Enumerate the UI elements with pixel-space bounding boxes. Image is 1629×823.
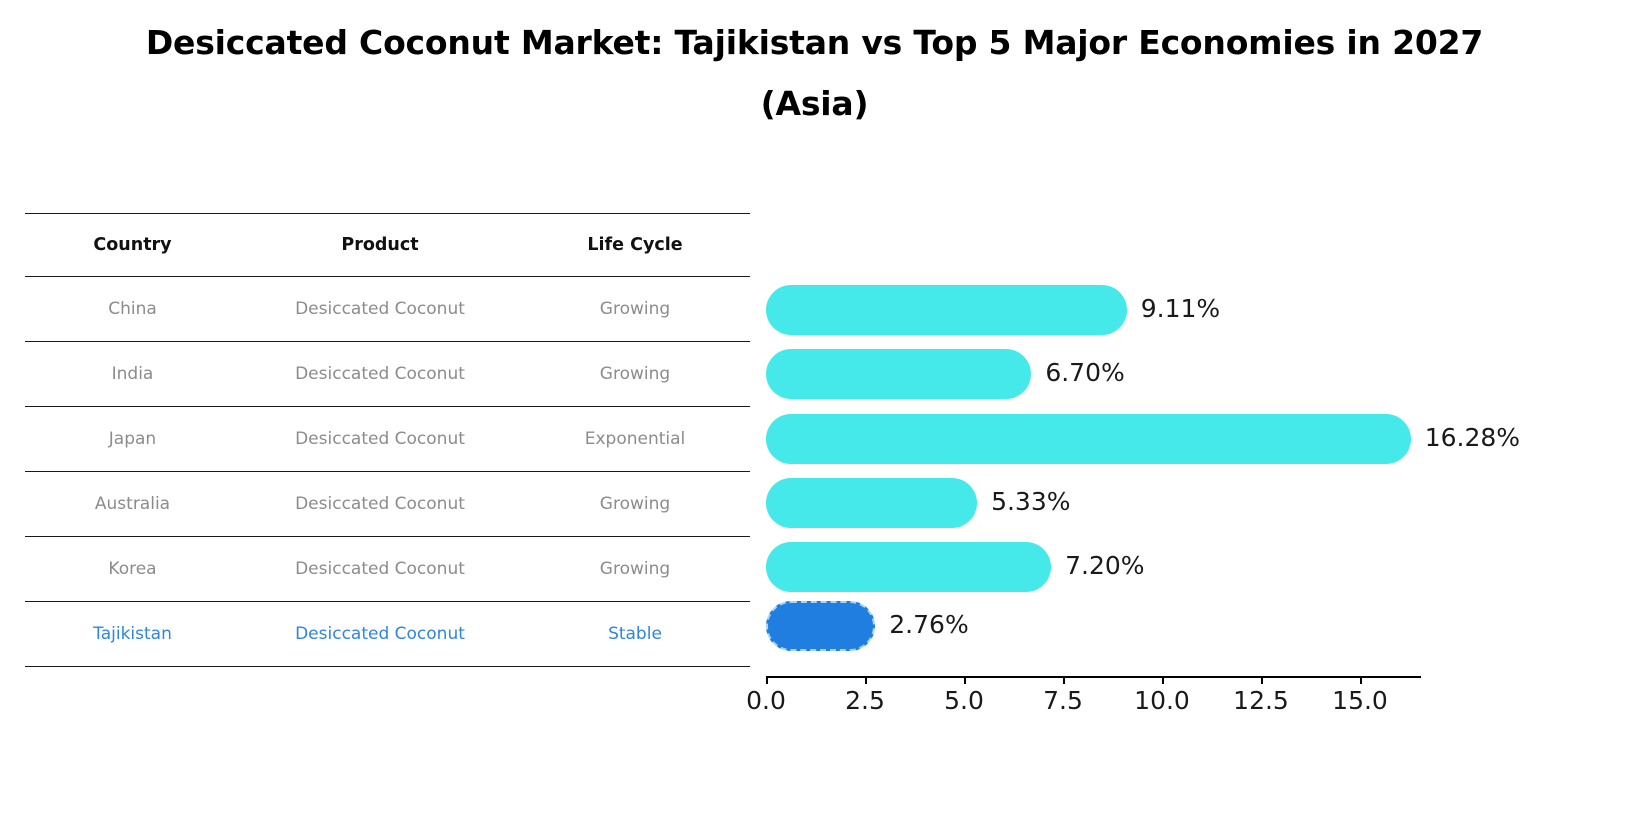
table-row: JapanDesiccated CoconutExponential xyxy=(25,407,750,472)
bar-row xyxy=(766,285,1127,335)
x-axis-tick-label: 0.0 xyxy=(746,686,786,715)
table-row: KoreaDesiccated CoconutGrowing xyxy=(25,537,750,602)
x-axis-tick xyxy=(766,676,768,684)
x-axis-tick xyxy=(1261,676,1263,684)
cell-life-cycle: Growing xyxy=(520,342,750,407)
x-axis-tick xyxy=(1360,676,1362,684)
bar-row xyxy=(766,349,1031,399)
cell-life-cycle: Stable xyxy=(520,602,750,667)
column-header-product: Product xyxy=(240,214,520,277)
bar[interactable] xyxy=(766,414,1411,464)
column-header-life-cycle: Life Cycle xyxy=(520,214,750,277)
table-header: Country Product Life Cycle xyxy=(25,214,750,277)
x-axis-tick-label: 15.0 xyxy=(1332,686,1388,715)
table-row: ChinaDesiccated CoconutGrowing xyxy=(25,277,750,342)
bar[interactable] xyxy=(766,349,1031,399)
bar[interactable] xyxy=(766,285,1127,335)
bar[interactable] xyxy=(766,478,977,528)
table-row: IndiaDesiccated CoconutGrowing xyxy=(25,342,750,407)
bar-value-label: 2.76% xyxy=(889,610,968,639)
table-body: ChinaDesiccated CoconutGrowingIndiaDesic… xyxy=(25,277,750,667)
page-title: Desiccated Coconut Market: Tajikistan vs… xyxy=(0,12,1629,134)
chart-page: Desiccated Coconut Market: Tajikistan vs… xyxy=(0,0,1629,823)
table-row: TajikistanDesiccated CoconutStable xyxy=(25,602,750,667)
cell-product: Desiccated Coconut xyxy=(240,407,520,472)
cell-product: Desiccated Coconut xyxy=(240,277,520,342)
bar-highlight[interactable] xyxy=(766,601,875,651)
cell-country: India xyxy=(25,342,240,407)
x-axis-tick-label: 5.0 xyxy=(944,686,984,715)
bar-value-label: 7.20% xyxy=(1065,551,1144,580)
column-header-country: Country xyxy=(25,214,240,277)
bar[interactable] xyxy=(766,542,1051,592)
x-axis-tick xyxy=(865,676,867,684)
cell-country: Japan xyxy=(25,407,240,472)
bar-row xyxy=(766,542,1051,592)
bar-row xyxy=(766,601,875,651)
table-row: AustraliaDesiccated CoconutGrowing xyxy=(25,472,750,537)
bar-value-label: 16.28% xyxy=(1425,423,1520,452)
x-axis-tick-label: 2.5 xyxy=(845,686,885,715)
cell-product: Desiccated Coconut xyxy=(240,602,520,667)
cell-life-cycle: Exponential xyxy=(520,407,750,472)
cell-country: Korea xyxy=(25,537,240,602)
cell-product: Desiccated Coconut xyxy=(240,342,520,407)
cell-product: Desiccated Coconut xyxy=(240,472,520,537)
table-header-row: Country Product Life Cycle xyxy=(25,214,750,277)
cell-country: Australia xyxy=(25,472,240,537)
bar-row xyxy=(766,414,1411,464)
bar-value-label: 5.33% xyxy=(991,487,1070,516)
cell-product: Desiccated Coconut xyxy=(240,537,520,602)
x-axis-tick xyxy=(1162,676,1164,684)
x-axis-tick xyxy=(1063,676,1065,684)
cell-life-cycle: Growing xyxy=(520,277,750,342)
country-table-container: Country Product Life Cycle ChinaDesiccat… xyxy=(25,213,750,667)
x-axis-tick xyxy=(964,676,966,684)
cell-country: Tajikistan xyxy=(25,602,240,667)
cell-life-cycle: Growing xyxy=(520,472,750,537)
title-line-2: (Asia) xyxy=(0,73,1629,134)
bar-row xyxy=(766,478,977,528)
x-axis-tick-label: 7.5 xyxy=(1043,686,1083,715)
x-axis-line xyxy=(766,676,1421,678)
cell-life-cycle: Growing xyxy=(520,537,750,602)
title-line-1: Desiccated Coconut Market: Tajikistan vs… xyxy=(0,12,1629,73)
x-axis-tick-label: 10.0 xyxy=(1134,686,1190,715)
country-table: Country Product Life Cycle ChinaDesiccat… xyxy=(25,213,750,667)
bar-value-label: 6.70% xyxy=(1045,358,1124,387)
cell-country: China xyxy=(25,277,240,342)
x-axis-tick-label: 12.5 xyxy=(1233,686,1289,715)
bar-value-label: 9.11% xyxy=(1141,294,1220,323)
